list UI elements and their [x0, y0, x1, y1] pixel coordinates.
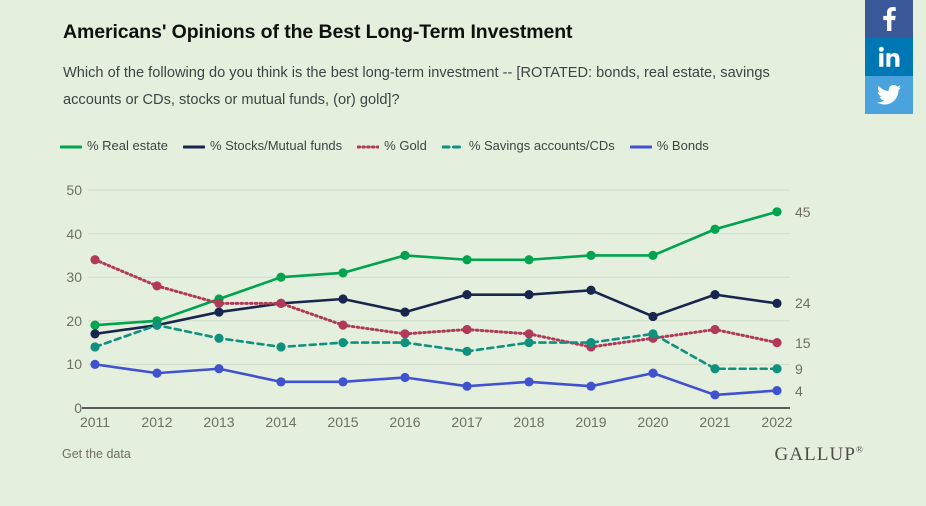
data-point[interactable] [772, 364, 781, 373]
data-point[interactable] [462, 325, 471, 334]
legend-label: % Savings accounts/CDs [469, 138, 615, 153]
series-end-label-2: 15 [795, 335, 811, 351]
legend-swatch-icon [183, 140, 205, 152]
data-point[interactable] [586, 286, 595, 295]
data-point[interactable] [214, 334, 223, 343]
data-point[interactable] [524, 329, 533, 338]
x-axis-tick-label: 2016 [389, 414, 420, 430]
data-point[interactable] [214, 307, 223, 316]
x-axis-tick-label: 2022 [761, 414, 792, 430]
data-point[interactable] [586, 382, 595, 391]
data-point[interactable] [524, 290, 533, 299]
series-end-label-1: 24 [795, 295, 811, 311]
legend-label: % Stocks/Mutual funds [210, 138, 342, 153]
data-point[interactable] [772, 299, 781, 308]
x-axis-tick-label: 2021 [699, 414, 730, 430]
gallup-chart-card: Americans' Opinions of the Best Long-Ter… [0, 0, 926, 506]
legend-label: % Real estate [87, 138, 168, 153]
facebook-icon [883, 7, 896, 31]
legend-label: % Gold [384, 138, 427, 153]
x-axis-tick-label: 2018 [513, 414, 544, 430]
data-point[interactable] [152, 281, 161, 290]
data-point[interactable] [710, 325, 719, 334]
legend-swatch-icon [60, 140, 82, 152]
x-axis-tick-label: 2014 [265, 414, 296, 430]
data-point[interactable] [400, 373, 409, 382]
data-point[interactable] [152, 321, 161, 330]
chart-legend: % Real estate% Stocks/Mutual funds% Gold… [60, 138, 724, 153]
data-point[interactable] [90, 255, 99, 264]
gallup-logo: GALLUP® [775, 444, 865, 466]
data-point[interactable] [400, 338, 409, 347]
data-point[interactable] [648, 369, 657, 378]
data-point[interactable] [462, 347, 471, 356]
data-point[interactable] [338, 338, 347, 347]
x-axis-tick-label: 2012 [141, 414, 172, 430]
data-point[interactable] [710, 225, 719, 234]
data-point[interactable] [90, 329, 99, 338]
series-line-1 [95, 290, 777, 334]
legend-item-1[interactable]: % Stocks/Mutual funds [183, 138, 342, 153]
get-the-data-link[interactable]: Get the data [62, 447, 131, 461]
y-axis-tick-label: 10 [48, 356, 82, 372]
social-share-rail [865, 0, 913, 114]
legend-item-0[interactable]: % Real estate [60, 138, 168, 153]
data-point[interactable] [772, 338, 781, 347]
data-point[interactable] [586, 342, 595, 351]
data-point[interactable] [276, 342, 285, 351]
data-point[interactable] [772, 207, 781, 216]
data-point[interactable] [276, 299, 285, 308]
data-point[interactable] [90, 360, 99, 369]
y-axis-tick-label: 30 [48, 269, 82, 285]
twitter-bird-icon [877, 85, 901, 105]
data-point[interactable] [400, 307, 409, 316]
legend-item-3[interactable]: % Savings accounts/CDs [442, 138, 615, 153]
gallup-wordmark: GALLUP [775, 444, 857, 465]
x-axis-tick-label: 2020 [637, 414, 668, 430]
data-point[interactable] [152, 369, 161, 378]
y-axis-tick-label: 20 [48, 313, 82, 329]
data-point[interactable] [648, 329, 657, 338]
data-point[interactable] [400, 329, 409, 338]
data-point[interactable] [648, 251, 657, 260]
data-point[interactable] [462, 255, 471, 264]
legend-swatch-icon [630, 140, 652, 152]
series-line-0 [95, 212, 777, 325]
registered-mark: ® [856, 445, 864, 455]
series-end-label-4: 4 [795, 383, 803, 399]
data-point[interactable] [214, 299, 223, 308]
data-point[interactable] [710, 290, 719, 299]
legend-item-2[interactable]: % Gold [357, 138, 427, 153]
data-point[interactable] [648, 334, 657, 343]
data-point[interactable] [586, 338, 595, 347]
linkedin-icon [878, 46, 900, 68]
data-point[interactable] [462, 382, 471, 391]
series-line-2 [95, 260, 777, 347]
data-point[interactable] [400, 251, 409, 260]
legend-swatch-icon [357, 140, 379, 152]
data-point[interactable] [338, 321, 347, 330]
series-line-3 [95, 325, 777, 369]
data-point[interactable] [152, 316, 161, 325]
data-point[interactable] [276, 377, 285, 386]
chart-subtitle: Which of the following do you think is t… [63, 60, 808, 114]
data-point[interactable] [338, 377, 347, 386]
page-title: Americans' Opinions of the Best Long-Ter… [63, 21, 572, 44]
facebook-share-button[interactable] [865, 0, 913, 38]
linkedin-share-button[interactable] [865, 38, 913, 76]
data-point[interactable] [710, 390, 719, 399]
legend-swatch-icon [442, 140, 464, 152]
x-axis-tick-label: 2013 [203, 414, 234, 430]
data-point[interactable] [648, 312, 657, 321]
x-axis-tick-label: 2011 [80, 414, 110, 430]
data-point[interactable] [90, 342, 99, 351]
y-axis-tick-label: 40 [48, 226, 82, 242]
data-point[interactable] [772, 386, 781, 395]
data-point[interactable] [524, 338, 533, 347]
series-line-4 [95, 364, 777, 395]
data-point[interactable] [462, 290, 471, 299]
data-point[interactable] [276, 273, 285, 282]
x-axis-tick-label: 2019 [575, 414, 606, 430]
data-point[interactable] [276, 299, 285, 308]
data-point[interactable] [152, 321, 161, 330]
y-axis-tick-label: 50 [48, 182, 82, 198]
data-point[interactable] [338, 268, 347, 277]
data-point[interactable] [338, 294, 347, 303]
x-axis-tick-label: 2017 [451, 414, 482, 430]
data-point[interactable] [524, 255, 533, 264]
series-end-label-3: 9 [795, 361, 803, 377]
data-point[interactable] [710, 364, 719, 373]
x-axis-tick-label: 2015 [327, 414, 358, 430]
data-point[interactable] [524, 377, 533, 386]
series-end-label-0: 45 [795, 204, 811, 220]
y-axis-tick-label: 0 [48, 400, 82, 416]
data-point[interactable] [214, 364, 223, 373]
data-point[interactable] [214, 294, 223, 303]
data-point[interactable] [90, 321, 99, 330]
legend-label: % Bonds [657, 138, 709, 153]
data-point[interactable] [586, 251, 595, 260]
twitter-share-button[interactable] [865, 76, 913, 114]
legend-item-4[interactable]: % Bonds [630, 138, 709, 153]
